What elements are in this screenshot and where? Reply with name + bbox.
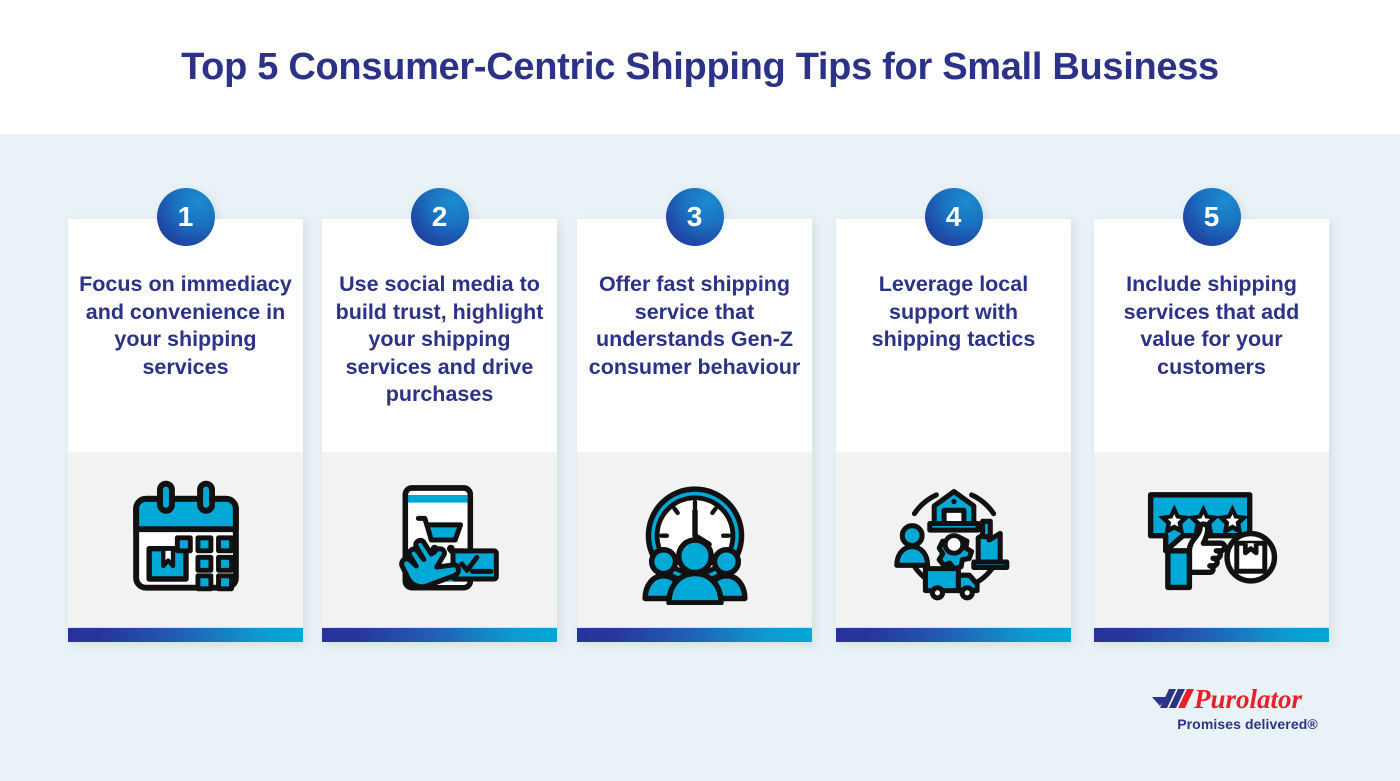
card-accent-bar <box>1094 628 1329 642</box>
card-text-panel: 4 Leverage local support with shipping t… <box>836 219 1071 452</box>
card-text: Focus on immediacy and convenience in yo… <box>78 271 293 381</box>
card-accent-bar <box>68 628 303 642</box>
tip-card-3[interactable]: 3 Offer fast shipping service that under… <box>577 219 812 647</box>
purolator-arrow-icon <box>1152 689 1194 708</box>
card-number-badge: 1 <box>157 188 215 246</box>
purolator-wordmark: Purolator <box>1150 683 1345 716</box>
review-stars-thumbsup-icon <box>1142 470 1282 610</box>
card-accent-bar <box>577 628 812 642</box>
card-text: Leverage local support with shipping tac… <box>846 271 1061 354</box>
card-text: Offer fast shipping service that underst… <box>587 271 802 381</box>
card-text: Include shipping services that add value… <box>1104 271 1319 381</box>
page-title: Top 5 Consumer-Centric Shipping Tips for… <box>0 0 1400 134</box>
card-number-badge: 5 <box>1183 188 1241 246</box>
card-icon-panel <box>322 452 557 627</box>
card-icon-panel <box>68 452 303 627</box>
header-band: Top 5 Consumer-Centric Shipping Tips for… <box>0 0 1400 134</box>
card-number-badge: 2 <box>411 188 469 246</box>
card-icon-panel <box>577 452 812 627</box>
calendar-package-icon <box>116 470 256 610</box>
card-text-panel: 1 Focus on immediacy and convenience in … <box>68 219 303 452</box>
card-text-panel: 2 Use social media to build trust, highl… <box>322 219 557 452</box>
card-icon-panel <box>1094 452 1329 627</box>
purolator-logo: Purolator Promises delivered® <box>1150 683 1345 735</box>
tip-card-4[interactable]: 4 Leverage local support with shipping t… <box>836 219 1071 647</box>
purolator-tagline: Promises delivered® <box>1150 716 1345 732</box>
supply-chain-cycle-icon <box>884 470 1024 610</box>
card-text-panel: 3 Offer fast shipping service that under… <box>577 219 812 452</box>
purolator-name: Purolator <box>1193 684 1303 714</box>
card-number-badge: 3 <box>666 188 724 246</box>
hand-tap-phone-cart-icon <box>370 470 510 610</box>
tip-card-5[interactable]: 5 Include shipping services that add val… <box>1094 219 1329 647</box>
clock-people-icon <box>625 470 765 610</box>
card-accent-bar <box>322 628 557 642</box>
card-text: Use social media to build trust, highlig… <box>332 271 547 409</box>
card-icon-panel <box>836 452 1071 627</box>
tip-card-1[interactable]: 1 Focus on immediacy and convenience in … <box>68 219 303 647</box>
infographic-root: Top 5 Consumer-Centric Shipping Tips for… <box>0 0 1400 781</box>
card-accent-bar <box>836 628 1071 642</box>
card-number-badge: 4 <box>925 188 983 246</box>
tip-card-2[interactable]: 2 Use social media to build trust, highl… <box>322 219 557 647</box>
card-text-panel: 5 Include shipping services that add val… <box>1094 219 1329 452</box>
